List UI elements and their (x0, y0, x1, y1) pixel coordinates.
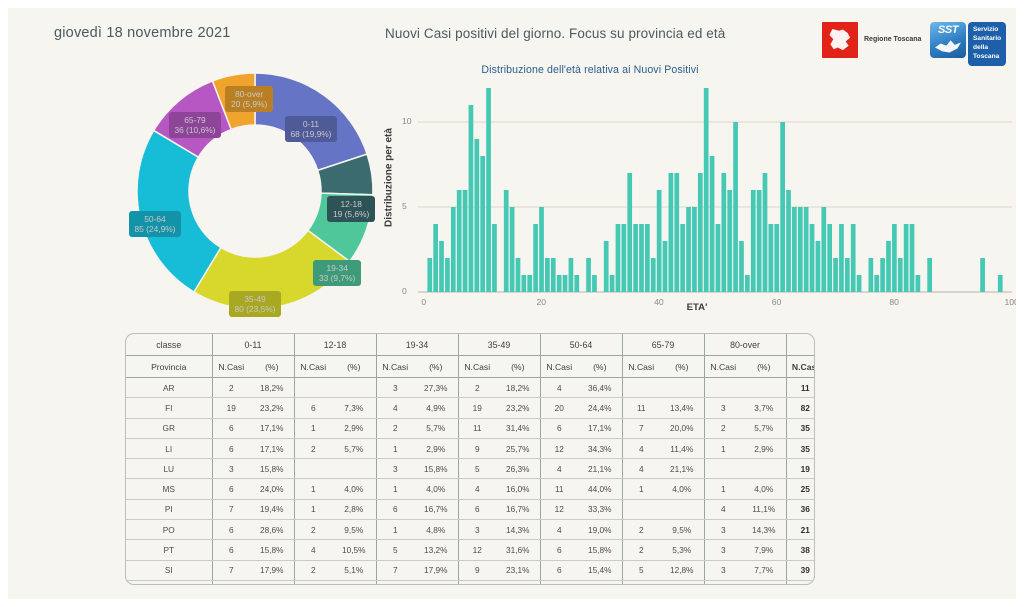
table-cell: 12,8% (660, 560, 704, 580)
table-cell: 7 (622, 418, 660, 438)
table-cell: 5,7% (742, 418, 786, 438)
table-cell: 3 (212, 459, 250, 479)
bar-age-98[interactable] (998, 275, 1003, 292)
table-cell (742, 459, 786, 479)
province-age-table: classe0-1112-1819-3435-4950-6465-7980-ov… (126, 334, 815, 585)
table-cell: 23,5% (496, 580, 540, 585)
table-cell: 6 (540, 560, 578, 580)
bar-chart-x-axis-label: ETA' (687, 302, 708, 313)
sst-bird-icon (935, 37, 961, 55)
table-cell: 5,1% (332, 560, 376, 580)
table-cell: 2,9% (332, 418, 376, 438)
bar-age-79[interactable] (886, 241, 891, 292)
age-class-donut-chart: 0-1168 (19,9%)12-1819 (5,6%)19-3433 (9,7… (110, 66, 400, 316)
frame-edge-bottom (0, 599, 1024, 607)
bar-age-81[interactable] (898, 258, 903, 292)
bar-age-46[interactable] (692, 207, 697, 292)
bar-age-63[interactable] (792, 207, 797, 292)
table-cell-total-ncasi: 82 (786, 398, 815, 418)
table-cell: 15,4% (578, 560, 622, 580)
table-cell: 9 (458, 438, 496, 458)
table-cell (742, 378, 786, 398)
table-cell: 16,7% (496, 499, 540, 519)
table-row[interactable]: FI1923,2%67,3%44,9%1923,2%2024,4%1113,4%… (126, 398, 815, 418)
x-tick-60: 60 (772, 297, 782, 307)
bar-age-80[interactable] (892, 224, 897, 292)
table-cell: 24,9% (578, 580, 622, 585)
table-cell-total-ncasi: 35 (786, 418, 815, 438)
table-cell: 6 (212, 520, 250, 540)
table-ncasi-header-12-18: N.Casi (294, 356, 332, 378)
bar-age-55[interactable] (745, 275, 750, 292)
table-cell: 28,6% (250, 520, 294, 540)
table-cell: 80 (458, 580, 496, 585)
table-cell: 23,1% (496, 560, 540, 580)
bar-age-1[interactable] (427, 258, 432, 292)
table-row[interactable]: GR617,1%12,9%25,7%1131,4%617,1%720,0%25,… (126, 418, 815, 438)
x-tick-20: 20 (537, 297, 547, 307)
table-cell: 7,7% (742, 560, 786, 580)
table-cell-provincia: AR (126, 378, 212, 398)
table-total-ncasi-header: N.Casi (786, 356, 815, 378)
table-cell: 4 (540, 378, 578, 398)
table-cell: 44,0% (578, 479, 622, 499)
table-cell: 4 (540, 459, 578, 479)
table-cell: 19,4% (250, 499, 294, 519)
bar-age-77[interactable] (874, 275, 879, 292)
table-cell: 7 (212, 499, 250, 519)
bar-age-8[interactable] (469, 105, 474, 292)
bar-age-37[interactable] (639, 224, 644, 292)
table-corner-classe: classe (126, 334, 212, 356)
bar-age-62[interactable] (786, 190, 791, 292)
table-cell: 19 (294, 580, 332, 585)
donut-label-19-34: 19-3433 (9,7%) (313, 260, 361, 287)
table-cell: 17,1% (578, 418, 622, 438)
table-cell: 6 (376, 499, 414, 519)
bar-age-53[interactable] (733, 122, 738, 292)
bar-age-48[interactable] (704, 88, 709, 292)
table-cell: 12 (458, 540, 496, 560)
bar-age-24[interactable] (563, 275, 568, 292)
table-cell: 4 (294, 540, 332, 560)
table-cell: 6 (212, 479, 250, 499)
table-cell: 5,3% (660, 540, 704, 560)
table-cell-total-ncasi: 39 (786, 560, 815, 580)
table-cell (332, 378, 376, 398)
table-cell: 2 (294, 438, 332, 458)
table-cell (660, 378, 704, 398)
bar-age-69[interactable] (827, 224, 832, 292)
table-cell: 2 (212, 378, 250, 398)
table-cell: 17,1% (250, 418, 294, 438)
bar-age-40[interactable] (657, 190, 662, 292)
table-ncasi-header-0-11: N.Casi (212, 356, 250, 378)
table-cell: 2 (294, 520, 332, 540)
bar-age-26[interactable] (574, 275, 579, 292)
table-cell-provincia: PT (126, 540, 212, 560)
table-cell (622, 378, 660, 398)
table-cell: 27,3% (414, 378, 458, 398)
table-cell: 6 (212, 540, 250, 560)
table-header-row-classes: classe0-1112-1819-3435-4950-6465-7980-ov… (126, 334, 815, 356)
table-row[interactable]: LU315,8%315,8%526,3%421,1%421,1%19100,0% (126, 459, 815, 479)
table-cell: 31,6% (496, 540, 540, 560)
table-cell: 1 (704, 479, 742, 499)
table-cell: 2 (704, 418, 742, 438)
table-cell: 3 (376, 378, 414, 398)
table-cell: 15,8% (250, 459, 294, 479)
table-pct-header-80-over: (%) (742, 356, 786, 378)
table-cell-provincia: FI (126, 398, 212, 418)
table-cell: 18,2% (250, 378, 294, 398)
table-cell-total-ncasi: 19 (786, 459, 815, 479)
table-ncasi-header-19-34: N.Casi (376, 356, 414, 378)
donut-label-35-49: 35-4980 (23,5%) (229, 291, 282, 318)
table-cell: 10,5% (332, 540, 376, 560)
table-total-header: Totale (786, 334, 815, 356)
table-cell: 33,3% (578, 499, 622, 519)
table-cell-total-ncasi: 25 (786, 479, 815, 499)
sst-line-2: Sanitario (973, 35, 1001, 44)
table-cell-provincia: LU (126, 459, 212, 479)
table-cell: 4 (622, 438, 660, 458)
table-cell: 20 (540, 398, 578, 418)
age-distribution-bar-chart: Distribuzione per età ETA' 0510020406080… (376, 80, 1020, 320)
table-cell: 4,9% (414, 398, 458, 418)
table-cell-total-ncasi: 38 (786, 540, 815, 560)
table-pct-header-19-34: (%) (414, 356, 458, 378)
sst-line-4: Toscana (973, 53, 1001, 62)
table-cell-total-ncasi: 341 (786, 580, 815, 585)
bar-age-12[interactable] (492, 224, 497, 292)
table-class-header-0-11: 0-11 (212, 334, 294, 356)
table-provincia-header: Provincia (126, 356, 212, 378)
table-cell: 1 (294, 499, 332, 519)
table-cell (294, 459, 332, 479)
table-cell: 10,6% (660, 580, 704, 585)
table-cell: 20 (704, 580, 742, 585)
table-cell-total-ncasi: 21 (786, 520, 815, 540)
table-cell: 6 (212, 438, 250, 458)
table-cell: 23,2% (496, 398, 540, 418)
table-cell: 4 (704, 499, 742, 519)
bar-age-6[interactable] (457, 190, 462, 292)
table-cell: 16,0% (496, 479, 540, 499)
table-pct-header-35-49: (%) (496, 356, 540, 378)
bar-age-50[interactable] (716, 224, 721, 292)
table-cell (294, 378, 332, 398)
table-cell: 11 (540, 479, 578, 499)
table-cell: 19,0% (578, 520, 622, 540)
table-row[interactable]: LI617,1%25,7%12,9%925,7%1234,3%411,4%12,… (126, 438, 815, 458)
bar-age-23[interactable] (557, 275, 562, 292)
table-cell: 26,3% (496, 459, 540, 479)
table-cell: 25,7% (496, 438, 540, 458)
bar-age-38[interactable] (645, 224, 650, 292)
table-cell: 6 (458, 499, 496, 519)
bar-age-29[interactable] (592, 275, 597, 292)
table-cell (660, 499, 704, 519)
table-cell: 3 (376, 459, 414, 479)
bar-age-39[interactable] (651, 258, 656, 292)
bar-age-44[interactable] (680, 224, 685, 292)
table-cell: 6 (212, 418, 250, 438)
frame-edge-left (0, 0, 8, 607)
table-cell: 4,0% (742, 479, 786, 499)
bar-age-78[interactable] (880, 258, 885, 292)
bar-age-66[interactable] (810, 224, 815, 292)
table-cell: 23,2% (250, 398, 294, 418)
table-cell: 5 (622, 560, 660, 580)
table-pct-header-50-64: (%) (578, 356, 622, 378)
bar-age-15[interactable] (510, 207, 515, 292)
table-cell-provincia: PO (126, 520, 212, 540)
table-cell: 4,0% (414, 479, 458, 499)
x-tick-0: 0 (421, 297, 426, 307)
table-cell: 5,6% (332, 580, 376, 585)
bar-age-84[interactable] (916, 275, 921, 292)
table-cell: 9,5% (660, 520, 704, 540)
table-pct-header-12-18: (%) (332, 356, 376, 378)
bar-age-16[interactable] (516, 258, 521, 292)
table-cell: 7 (212, 560, 250, 580)
bar-age-64[interactable] (798, 207, 803, 292)
table-cell-total-ncasi: 35 (786, 438, 815, 458)
table-row[interactable]: PI719,4%12,8%616,7%616,7%1233,3%411,1%36… (126, 499, 815, 519)
bar-age-47[interactable] (698, 173, 703, 292)
table-cell: 15,8% (578, 540, 622, 560)
bar-age-2[interactable] (433, 224, 438, 292)
bar-chart-svg (376, 80, 1020, 320)
bar-age-52[interactable] (727, 190, 732, 292)
table-cell: 1 (376, 479, 414, 499)
table-cell: 1 (376, 438, 414, 458)
table-row[interactable]: PT615,8%410,5%513,2%1231,6%615,8%25,3%37… (126, 540, 815, 560)
regione-toscana-logo-label: Regione Toscana (864, 36, 921, 44)
table-cell: 2 (458, 378, 496, 398)
bar-age-86[interactable] (927, 258, 932, 292)
page-title: Nuovi Casi positivi del giorno. Focus su… (385, 26, 725, 41)
frame-edge-top (0, 0, 1024, 8)
table-cell: 4 (458, 479, 496, 499)
table-cell: 36,4% (578, 378, 622, 398)
bar-age-21[interactable] (545, 258, 550, 292)
bar-age-34[interactable] (621, 224, 626, 292)
bar-age-17[interactable] (522, 275, 527, 292)
table-cell-provincia: Totale (126, 580, 212, 585)
table-cell: 15,8% (414, 459, 458, 479)
table-row[interactable]: Totale6819,9%195,6%339,7%8023,5%8524,9%3… (126, 580, 815, 585)
table-cell: 19 (458, 398, 496, 418)
table-cell: 3 (704, 398, 742, 418)
table-cell: 6 (294, 398, 332, 418)
dashboard-page: giovedì 18 novembre 2021 Nuovi Casi posi… (0, 0, 1024, 607)
table-cell-total-ncasi: 36 (786, 499, 815, 519)
bar-age-10[interactable] (480, 156, 485, 292)
bar-age-70[interactable] (833, 258, 838, 292)
table-cell: 17,1% (250, 438, 294, 458)
table-cell (622, 499, 660, 519)
table-row[interactable]: SI717,9%25,1%717,9%923,1%615,4%512,8%37,… (126, 560, 815, 580)
bar-age-95[interactable] (980, 258, 985, 292)
table-cell: 13,2% (414, 540, 458, 560)
table-cell: 19 (212, 398, 250, 418)
bar-age-43[interactable] (674, 173, 679, 292)
table-cell: 11,4% (660, 438, 704, 458)
bar-age-57[interactable] (757, 190, 762, 292)
bar-age-58[interactable] (763, 173, 768, 292)
table-row[interactable]: MS624,0%14,0%14,0%416,0%1144,0%14,0%14,0… (126, 479, 815, 499)
table-cell: 11 (622, 398, 660, 418)
sst-line-3: della (973, 44, 1001, 53)
table-cell-provincia: PI (126, 499, 212, 519)
bar-age-49[interactable] (710, 156, 715, 292)
bar-age-71[interactable] (839, 224, 844, 292)
table-cell: 5 (458, 459, 496, 479)
bar-age-7[interactable] (463, 190, 468, 292)
table-cell: 9,7% (414, 580, 458, 585)
table-cell: 9 (458, 560, 496, 580)
table-cell: 4,8% (414, 520, 458, 540)
sst-logo-label: Servizio Sanitario della Toscana (968, 22, 1006, 66)
bar-age-32[interactable] (610, 275, 615, 292)
donut-label-12-18: 12-1819 (5,6%) (327, 196, 375, 223)
sst-abbr-label: SST (930, 24, 966, 36)
table-class-header-80-over: 80-over (704, 334, 786, 356)
table-cell: 4,0% (332, 479, 376, 499)
bar-age-25[interactable] (569, 258, 574, 292)
y-tick-10: 10 (402, 116, 412, 126)
table-cell: 33 (376, 580, 414, 585)
bar-age-45[interactable] (686, 207, 691, 292)
table-cell: 18,2% (496, 378, 540, 398)
table-cell: 1 (376, 520, 414, 540)
table-cell: 3,7% (742, 398, 786, 418)
table-class-header-19-34: 19-34 (376, 334, 458, 356)
bar-age-4[interactable] (445, 258, 450, 292)
table-cell: 11,1% (742, 499, 786, 519)
regione-toscana-logo: Regione Toscana (822, 22, 921, 58)
province-age-table-card: classe0-1112-1819-3435-4950-6465-7980-ov… (125, 333, 815, 585)
bar-age-3[interactable] (439, 241, 444, 292)
bar-age-56[interactable] (751, 190, 756, 292)
bar-age-51[interactable] (721, 173, 726, 292)
table-cell: 7,9% (742, 540, 786, 560)
bar-chart-y-axis-label: Distribuzione per età (384, 103, 395, 253)
bar-age-54[interactable] (739, 241, 744, 292)
bar-age-68[interactable] (821, 207, 826, 292)
table-cell: 12 (540, 438, 578, 458)
bar-age-18[interactable] (527, 275, 532, 292)
table-pct-header-0-11: (%) (250, 356, 294, 378)
bar-chart-title: Distribuzione dell'età relativa ai Nuovi… (481, 64, 698, 76)
table-cell-provincia: GR (126, 418, 212, 438)
table-cell: 11 (458, 418, 496, 438)
table-cell: 9,5% (332, 520, 376, 540)
bar-age-76[interactable] (868, 258, 873, 292)
bar-age-83[interactable] (910, 224, 915, 292)
table-cell: 1 (704, 438, 742, 458)
bar-age-82[interactable] (904, 224, 909, 292)
bar-age-11[interactable] (486, 88, 491, 292)
report-date: giovedì 18 novembre 2021 (54, 25, 231, 41)
donut-label-0-11: 0-1168 (19,9%) (285, 116, 338, 143)
table-row[interactable]: AR218,2%327,3%218,2%436,4%11100,0% (126, 378, 815, 398)
bar-age-65[interactable] (804, 207, 809, 292)
bar-age-42[interactable] (669, 173, 674, 292)
table-cell: 4 (622, 459, 660, 479)
table-cell: 2 (622, 540, 660, 560)
table-class-header-65-79: 65-79 (622, 334, 704, 356)
table-cell: 4,0% (660, 479, 704, 499)
bar-age-5[interactable] (451, 207, 456, 292)
bar-age-9[interactable] (474, 139, 479, 292)
table-cell: 3 (704, 540, 742, 560)
bar-age-14[interactable] (504, 190, 509, 292)
bar-age-60[interactable] (774, 224, 779, 292)
table-cell: 6 (540, 418, 578, 438)
table-cell: 3 (704, 560, 742, 580)
bar-age-20[interactable] (539, 207, 544, 292)
sst-line-1: Servizio (973, 26, 1001, 35)
table-cell: 1 (294, 479, 332, 499)
donut-label-65-79: 65-7936 (10,6%) (169, 112, 222, 139)
table-cell: 1 (622, 479, 660, 499)
x-tick-80: 80 (889, 297, 899, 307)
bar-age-72[interactable] (845, 258, 850, 292)
y-tick-0: 0 (402, 286, 407, 296)
table-cell: 2,9% (414, 438, 458, 458)
table-cell: 7,3% (332, 398, 376, 418)
table-cell: 31,4% (496, 418, 540, 438)
table-cell: 6 (540, 540, 578, 560)
table-cell: 5,7% (414, 418, 458, 438)
bar-age-22[interactable] (551, 258, 556, 292)
table-cell: 4 (540, 520, 578, 540)
table-cell: 21,1% (578, 459, 622, 479)
table-row[interactable]: PO628,6%29,5%14,8%314,3%419,0%29,5%314,3… (126, 520, 815, 540)
regione-toscana-pegasus-icon (822, 22, 858, 58)
bar-age-33[interactable] (616, 224, 621, 292)
table-cell: 17,9% (250, 560, 294, 580)
bar-age-28[interactable] (586, 258, 591, 292)
table-cell: 2 (294, 560, 332, 580)
bar-age-74[interactable] (857, 275, 862, 292)
bar-age-59[interactable] (769, 224, 774, 292)
table-cell: 17,9% (414, 560, 458, 580)
bar-age-73[interactable] (851, 224, 856, 292)
table-cell: 3 (458, 520, 496, 540)
table-class-header-50-64: 50-64 (540, 334, 622, 356)
table-cell: 20,0% (660, 418, 704, 438)
table-header-row-metrics: ProvinciaN.Casi(%)N.Casi(%)N.Casi(%)N.Ca… (126, 356, 815, 378)
table-head: classe0-1112-1819-3435-4950-6465-7980-ov… (126, 334, 815, 378)
table-ncasi-header-65-79: N.Casi (622, 356, 660, 378)
bar-age-36[interactable] (633, 224, 638, 292)
bar-age-41[interactable] (663, 241, 668, 292)
x-tick-40: 40 (654, 297, 664, 307)
bar-age-61[interactable] (780, 122, 785, 292)
bar-age-67[interactable] (816, 241, 821, 292)
y-tick-5: 5 (402, 201, 407, 211)
table-cell: 3 (704, 520, 742, 540)
bar-age-31[interactable] (604, 241, 609, 292)
table-cell: 5,7% (332, 438, 376, 458)
bar-age-19[interactable] (533, 224, 538, 292)
bar-age-35[interactable] (627, 173, 632, 292)
table-cell: 24,4% (578, 398, 622, 418)
